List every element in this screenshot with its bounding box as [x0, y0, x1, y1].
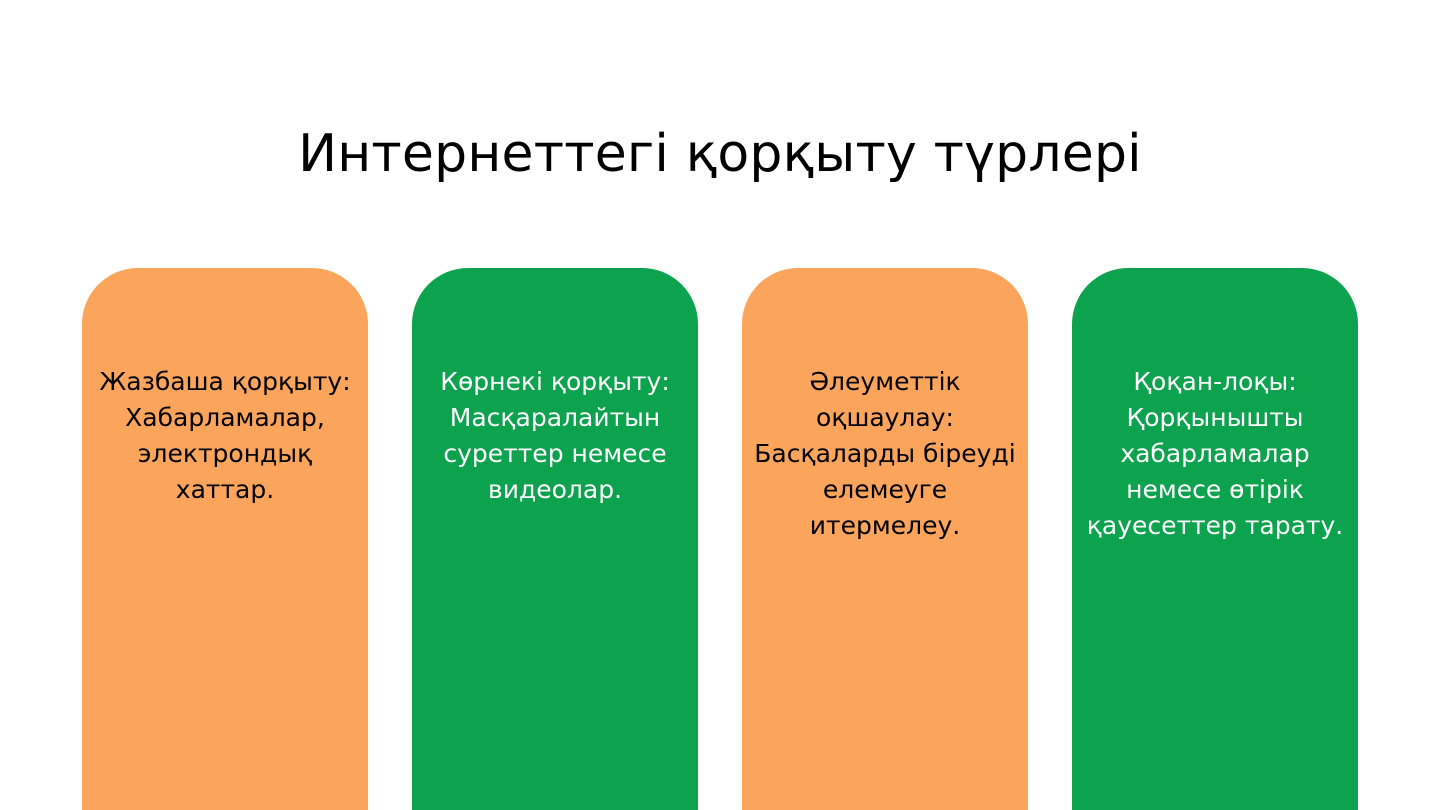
- slide-canvas: Интернеттегі қорқыту түрлері Жазбаша қор…: [0, 0, 1440, 810]
- card-text: Әлеуметтік оқшаулау: Басқаларды біреуді …: [750, 364, 1020, 544]
- page-title: Интернеттегі қорқыту түрлері: [0, 123, 1440, 185]
- card-threats-rumors[interactable]: Қоқан-лоқы: Қорқынышты хабарламалар неме…: [1072, 268, 1358, 810]
- card-social-isolation[interactable]: Әлеуметтік оқшаулау: Басқаларды біреуді …: [742, 268, 1028, 810]
- card-text: Жазбаша қорқыту: Хабарламалар, электронд…: [90, 364, 360, 508]
- card-text: Көрнекі қорқыту: Масқаралайтын суреттер …: [420, 364, 690, 508]
- card-text: Қоқан-лоқы: Қорқынышты хабарламалар неме…: [1080, 364, 1350, 544]
- card-written-bullying[interactable]: Жазбаша қорқыту: Хабарламалар, электронд…: [82, 268, 368, 810]
- card-visual-bullying[interactable]: Көрнекі қорқыту: Масқаралайтын суреттер …: [412, 268, 698, 810]
- card-row: Жазбаша қорқыту: Хабарламалар, электронд…: [82, 268, 1358, 810]
